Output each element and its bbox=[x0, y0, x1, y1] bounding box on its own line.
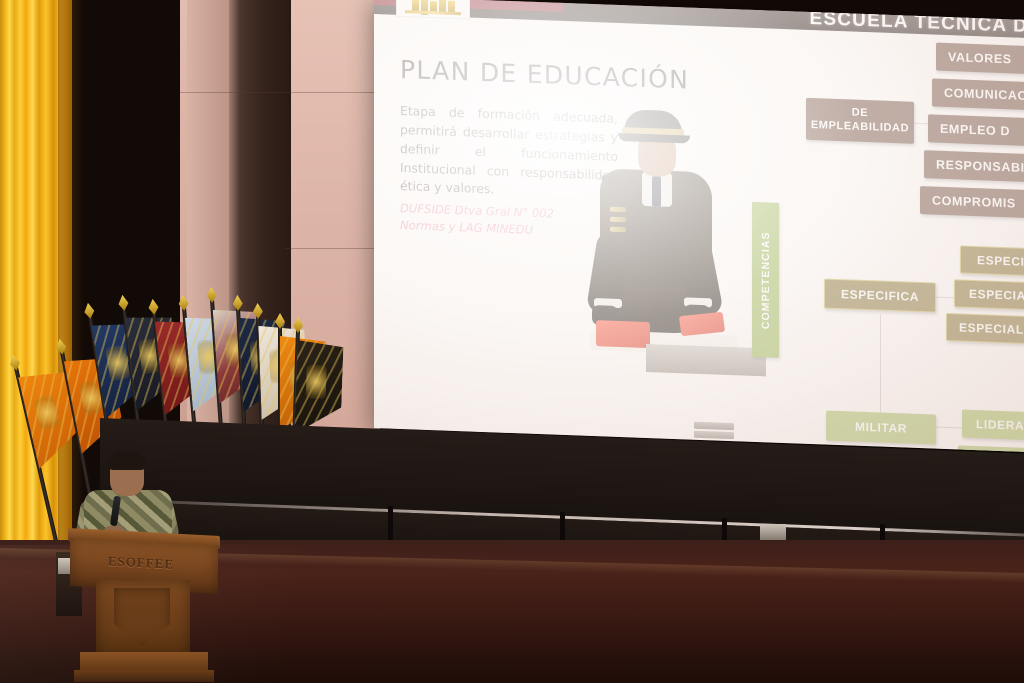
box-comunicacion: COMUNICAC bbox=[932, 78, 1024, 112]
officer-photo bbox=[586, 102, 738, 368]
slide-header-band: ESCUELA TÉCNICA D bbox=[374, 0, 1024, 38]
competencias-text: COMPETENCIAS bbox=[760, 231, 772, 329]
wall-seam bbox=[180, 92, 380, 93]
auditorium-scene: ESCUELA TÉCNICA D PLAN DE EDUCACIÓN Etap… bbox=[0, 0, 1024, 683]
projection-screen: ESCUELA TÉCNICA D PLAN DE EDUCACIÓN Etap… bbox=[374, 0, 1024, 452]
slide-title: PLAN DE EDUCACIÓN bbox=[400, 55, 689, 95]
box-empleo: EMPLEO D bbox=[928, 114, 1024, 148]
box-compromiso: COMPROMIS bbox=[920, 186, 1024, 221]
speaker-hair bbox=[108, 452, 146, 470]
box-liderazgo: LIDERA bbox=[962, 410, 1024, 443]
box-responsabilidad: RESPONSABI bbox=[924, 150, 1024, 184]
box-especialidad-3: ESPECIALD bbox=[946, 313, 1024, 347]
box-de-empleabilidad: DE EMPLEABILIDAD bbox=[806, 98, 914, 144]
box-especialidad-1: ESPECI bbox=[960, 245, 1024, 278]
empleabilidad-line-2: EMPLEABILIDAD bbox=[811, 119, 909, 136]
connector-line bbox=[880, 315, 881, 425]
box-especifica: ESPECIFICA bbox=[824, 279, 936, 313]
box-valores: VALORES bbox=[936, 43, 1024, 77]
competencias-vertical-label: COMPETENCIAS bbox=[752, 202, 779, 358]
wall-seam bbox=[285, 248, 380, 249]
podium-and-speaker: ESOFFEE bbox=[62, 448, 242, 683]
slide-header-title: ESCUELA TÉCNICA D bbox=[810, 8, 1024, 38]
podium-plinth bbox=[74, 670, 214, 682]
box-especialidad-2: ESPECIA bbox=[954, 279, 1024, 312]
box-militar: MILITAR bbox=[826, 411, 936, 445]
under-stage-object bbox=[760, 524, 786, 540]
institution-emblem-icon bbox=[396, 0, 470, 20]
